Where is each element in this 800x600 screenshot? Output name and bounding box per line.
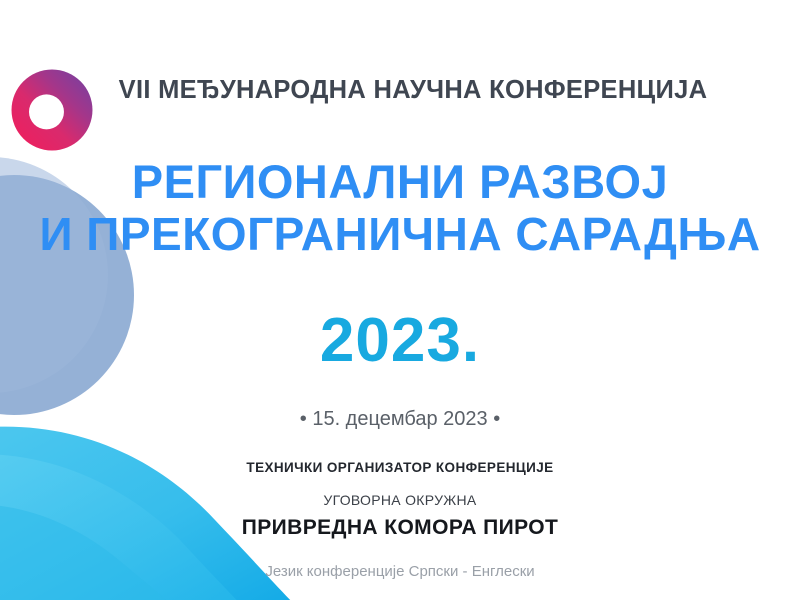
conference-date: • 15. децембар 2023 • [0, 409, 800, 429]
organizer-name: ПРИВРЕДНА КОМОРА ПИРОТ [0, 517, 800, 538]
page-title-line-2: И ПРЕКОГРАНИЧНА САРАДЊА [0, 211, 800, 259]
organizer-label: ТЕХНИЧКИ ОРГАНИЗАТОР КОНФЕРЕНЦИЈЕ [0, 461, 800, 475]
organizer-subtitle: УГОВОРНА ОКРУЖНА [0, 493, 800, 507]
page-title-line-1: РЕГИОНАЛНИ РАЗВОЈ [0, 158, 800, 207]
conference-language-note: Језик конференције Српски - Енглески [0, 564, 800, 579]
page-title: РЕГИОНАЛНИ РАЗВОЈ И ПРЕКОГРАНИЧНА САРАДЊ… [0, 158, 800, 259]
poster-content: VII МЕЂУНАРОДНА НАУЧНА КОНФЕРЕНЦИЈА РЕГИ… [0, 0, 800, 600]
organizer-block: ТЕХНИЧКИ ОРГАНИЗАТОР КОНФЕРЕНЦИЈЕ УГОВОР… [0, 461, 800, 538]
conference-year: 2023. [0, 310, 800, 372]
conference-poster: VII МЕЂУНАРОДНА НАУЧНА КОНФЕРЕНЦИЈА РЕГИ… [0, 0, 800, 600]
conference-eyebrow-heading: VII МЕЂУНАРОДНА НАУЧНА КОНФЕРЕНЦИЈА [0, 78, 800, 104]
